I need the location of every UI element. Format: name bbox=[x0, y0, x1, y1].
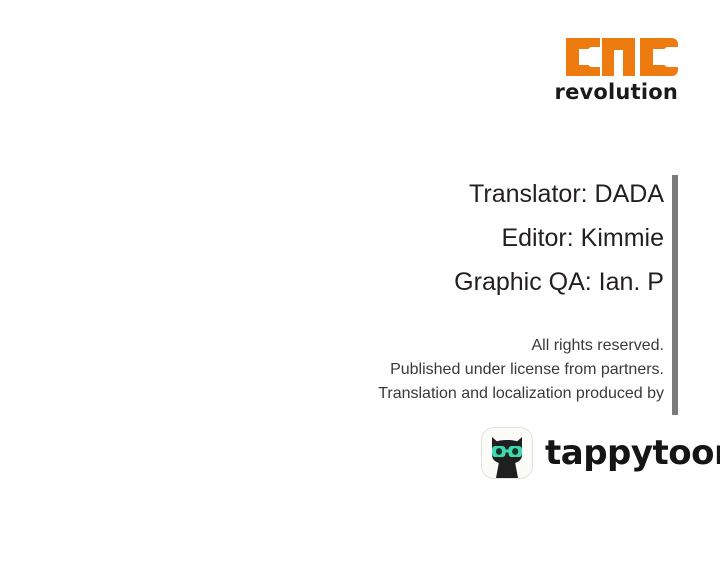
tappytoon-logo: tappytoon bbox=[481, 427, 720, 479]
cnc-revolution-wordmark: revolution bbox=[555, 80, 678, 104]
legal-line-rights: All rights reserved. bbox=[378, 334, 664, 358]
legal-line-localization: Translation and localization produced by bbox=[378, 382, 664, 406]
cnc-revolution-logo: revolution bbox=[566, 38, 678, 104]
credits-legal-notes: All rights reserved. Published under lic… bbox=[378, 334, 664, 406]
cnc-letter-c-first bbox=[566, 38, 600, 76]
cnc-letter-n bbox=[602, 38, 635, 76]
tappytoon-cat-icon bbox=[481, 427, 533, 479]
credit-line-translator: Translator: DADA bbox=[454, 172, 664, 216]
credits-staff-list: Translator: DADA Editor: Kimmie Graphic … bbox=[454, 172, 664, 304]
credit-line-graphic-qa: Graphic QA: Ian. P bbox=[454, 260, 664, 304]
credit-line-editor: Editor: Kimmie bbox=[454, 216, 664, 260]
credits-divider-bar bbox=[672, 175, 678, 415]
cnc-letter-c-second bbox=[640, 38, 678, 76]
tappytoon-wordmark: tappytoon bbox=[545, 435, 720, 471]
legal-line-license: Published under license from partners. bbox=[378, 358, 664, 382]
cnc-wordmark-icon bbox=[566, 38, 678, 76]
credits-page: revolution Translator: DADA Editor: Kimm… bbox=[0, 0, 720, 579]
